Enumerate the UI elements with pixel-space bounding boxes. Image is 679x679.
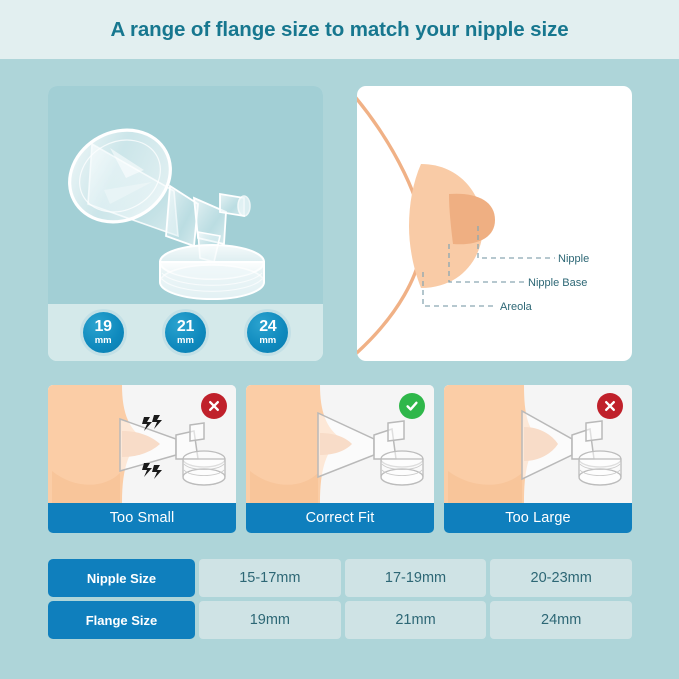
flange-illustration <box>48 86 323 304</box>
fit-illustration-too-small <box>48 385 236 503</box>
label-areola: Areola <box>500 301 533 313</box>
fit-card-too-large[interactable]: Too Large <box>444 385 632 533</box>
flange-size-value-1: 19mm <box>199 601 341 639</box>
label-nipple: Nipple <box>558 253 589 265</box>
size-badge-19-unit: mm <box>95 336 112 346</box>
fit-caption-correct-fit: Correct Fit <box>246 503 434 533</box>
fit-illustration-correct-fit <box>246 385 434 503</box>
label-nipple-base: Nipple Base <box>528 277 587 289</box>
table-row-nipple-size: Nipple Size 15-17mm 17-19mm 20-23mm <box>48 559 632 597</box>
size-badge-21-unit: mm <box>177 336 194 346</box>
fit-card-correct-fit[interactable]: Correct Fit <box>246 385 434 533</box>
size-badge-24[interactable]: 24 mm <box>247 312 288 353</box>
fit-comparison-row: Too Small <box>48 385 632 533</box>
size-badge-21[interactable]: 21 mm <box>165 312 206 353</box>
size-table: Nipple Size 15-17mm 17-19mm 20-23mm Flan… <box>48 559 632 639</box>
x-circle-icon <box>602 398 618 414</box>
page-header: A range of flange size to match your nip… <box>0 0 679 59</box>
nipple-size-value-1: 15-17mm <box>199 559 341 597</box>
flange-product-photo <box>48 86 323 304</box>
fit-card-too-small[interactable]: Too Small <box>48 385 236 533</box>
fit-caption-too-large: Too Large <box>444 503 632 533</box>
size-badge-19-number: 19 <box>95 319 112 335</box>
size-badge-19[interactable]: 19 mm <box>83 312 124 353</box>
size-badge-24-unit: mm <box>259 336 276 346</box>
fit-caption-too-small: Too Small <box>48 503 236 533</box>
status-icon-correct-fit <box>399 393 425 419</box>
flange-size-value-3: 24mm <box>490 601 632 639</box>
status-icon-too-large <box>597 393 623 419</box>
table-row-flange-size: Flange Size 19mm 21mm 24mm <box>48 601 632 639</box>
page-title: A range of flange size to match your nip… <box>110 18 568 42</box>
nipple-size-value-2: 17-19mm <box>345 559 487 597</box>
anatomy-panel: Nipple Nipple Base Areola <box>357 86 632 361</box>
nipple-size-value-3: 20-23mm <box>490 559 632 597</box>
check-circle-icon <box>404 398 420 414</box>
size-badge-21-number: 21 <box>177 319 194 335</box>
row-header-nipple-size: Nipple Size <box>48 559 195 597</box>
product-panel: 19 mm 21 mm 24 mm <box>48 86 323 361</box>
status-icon-too-small <box>201 393 227 419</box>
top-row: 19 mm 21 mm 24 mm <box>48 86 632 361</box>
row-header-flange-size: Flange Size <box>48 601 195 639</box>
x-circle-icon <box>206 398 222 414</box>
fit-illustration-too-large <box>444 385 632 503</box>
flange-size-value-2: 21mm <box>345 601 487 639</box>
flange-size-badges: 19 mm 21 mm 24 mm <box>48 304 323 361</box>
nipple-anatomy-diagram: Nipple Nipple Base Areola <box>357 86 632 361</box>
size-badge-24-number: 24 <box>259 319 276 335</box>
